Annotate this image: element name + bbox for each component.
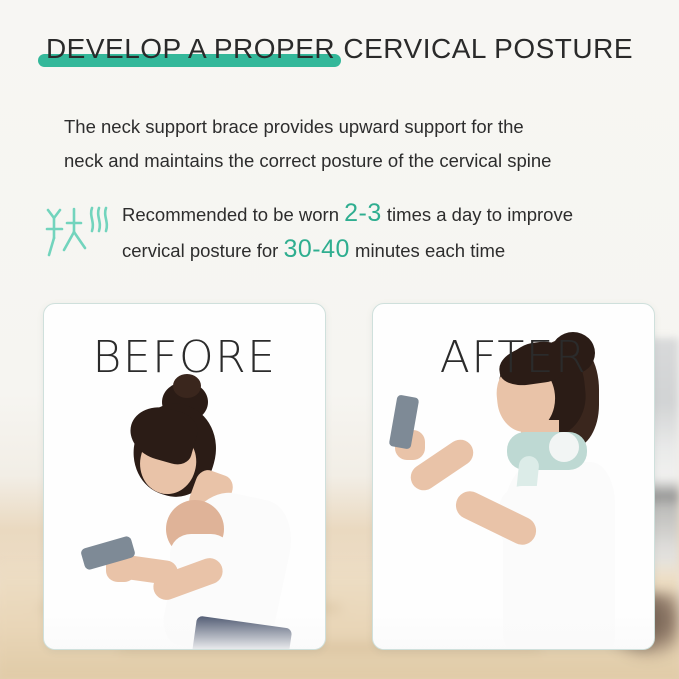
title-plain-text: CERVICAL POSTURE bbox=[335, 33, 633, 64]
recommendation-text: Recommended to be worn 2-3 times a day t… bbox=[122, 196, 654, 268]
before-card: BEFORE bbox=[43, 303, 326, 650]
reco-l1-pre: Recommended to be worn bbox=[122, 204, 344, 225]
page-title: DEVELOP A PROPER CERVICAL POSTURE bbox=[0, 33, 679, 65]
after-card: AFTER bbox=[372, 303, 655, 650]
reco-l2-post: minutes each time bbox=[350, 240, 505, 261]
reco-l2-pre: cervical posture for bbox=[122, 240, 283, 261]
description-line-1: The neck support brace provides upward s… bbox=[64, 110, 624, 144]
title-highlight-wrap: DEVELOP A PROPER bbox=[46, 33, 335, 65]
before-label: BEFORE bbox=[44, 332, 325, 383]
before-after-comparison: BEFORE AFTER bbox=[0, 303, 679, 651]
duration-value: 30-40 bbox=[283, 235, 349, 263]
recommendation-line-1: Recommended to be worn 2-3 times a day t… bbox=[122, 196, 654, 232]
description-line-2: neck and maintains the correct posture o… bbox=[64, 144, 624, 178]
reco-l1-post: times a day to improve bbox=[382, 204, 573, 225]
infographic-page: DEVELOP A PROPER CERVICAL POSTURE The ne… bbox=[0, 0, 679, 679]
description-paragraph: The neck support brace provides upward s… bbox=[64, 110, 624, 178]
neck-brace-device bbox=[549, 432, 579, 462]
recommendation-line-2: cervical posture for 30-40 minutes each … bbox=[122, 232, 654, 268]
posture-spine-icon bbox=[44, 198, 116, 260]
title-highlighted-text: DEVELOP A PROPER bbox=[46, 33, 335, 64]
frequency-value: 2-3 bbox=[344, 199, 382, 227]
after-label: AFTER bbox=[373, 332, 654, 383]
